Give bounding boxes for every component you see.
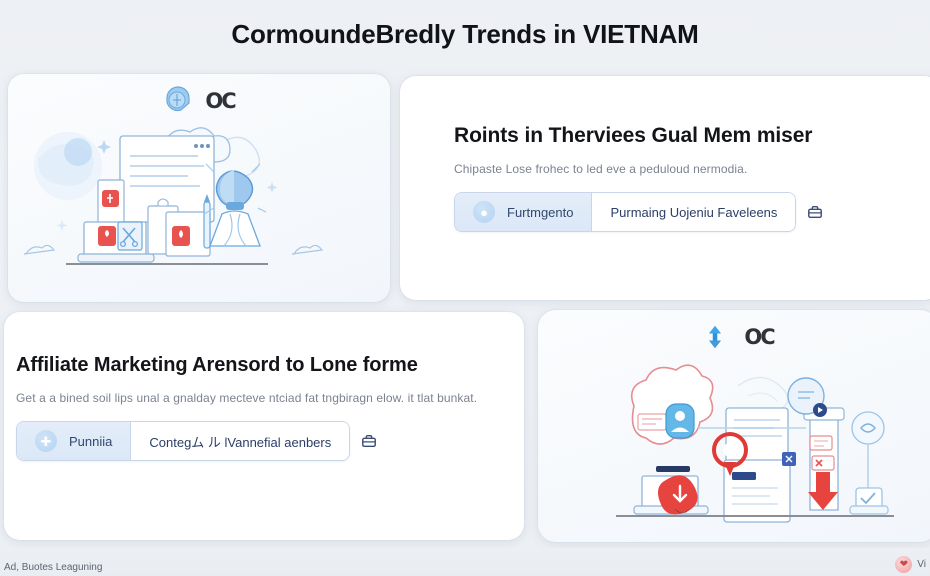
segment-option-primary-top-right[interactable]: ● Furtmgento bbox=[455, 193, 591, 231]
header-bar: CormoundeBredly Trends in VIETNAM bbox=[0, 0, 930, 68]
person-icon: ● bbox=[473, 201, 495, 223]
content-card-top-right: Roints in Therviees Gual Mem miser Chipa… bbox=[400, 76, 930, 300]
card-subtitle-top-right: Chipaste Lose frohec to led eve a pedulo… bbox=[454, 162, 886, 176]
laptop-documents-cloud-illustration bbox=[8, 74, 390, 302]
footer-left-text: Ad, Buotes Leaguning bbox=[4, 562, 102, 573]
segmented-control-row-bottom-left: ✚ Punniia Contegム ル lVannefial aenbers bbox=[16, 421, 498, 461]
download-social-documents-illustration bbox=[538, 310, 930, 542]
footer-bar: Ad, Buotes Leaguning ❤ Vi bbox=[0, 548, 930, 576]
segment-option-secondary-top-right[interactable]: Purmaing Uojeniu Faveleens bbox=[591, 193, 795, 231]
app-root: CormoundeBredly Trends in VIETNAM OC bbox=[0, 0, 930, 576]
card-heading-top-right: Roints in Therviees Gual Mem miser bbox=[454, 124, 886, 148]
segment-option-secondary-bottom-left[interactable]: Contegム ル lVannefial aenbers bbox=[130, 422, 349, 460]
segmented-control-bottom-left[interactable]: ✚ Punniia Contegム ル lVannefial aenbers bbox=[16, 421, 350, 461]
briefcase-icon[interactable] bbox=[360, 432, 378, 450]
segment-option-secondary-label-bottom-left: Contegム ル lVannefial aenbers bbox=[149, 432, 331, 451]
segment-option-primary-label-top-right: Furtmgento bbox=[507, 205, 573, 220]
heart-badge-icon: ❤ bbox=[895, 556, 912, 573]
segment-option-secondary-label-top-right: Purmaing Uojeniu Faveleens bbox=[610, 205, 777, 220]
illustration-card-top-left[interactable]: OC bbox=[8, 74, 390, 302]
plus-icon: ✚ bbox=[35, 430, 57, 452]
segment-option-primary-bottom-left[interactable]: ✚ Punniia bbox=[17, 422, 130, 460]
briefcase-icon[interactable] bbox=[806, 203, 824, 221]
card-body-top-right: Roints in Therviees Gual Mem miser Chipa… bbox=[400, 76, 930, 232]
card-subtitle-bottom-left: Get a a bined soil lips unal a gnalday m… bbox=[16, 391, 498, 405]
segment-option-primary-label-bottom-left: Punniia bbox=[69, 434, 112, 449]
card-body-bottom-left: Affiliate Marketing Arensord to Lone for… bbox=[4, 312, 524, 461]
page-title: CormoundeBredly Trends in VIETNAM bbox=[231, 19, 698, 50]
footer-right-text: Vi bbox=[917, 559, 926, 570]
card-heading-bottom-left: Affiliate Marketing Arensord to Lone for… bbox=[16, 354, 498, 377]
segmented-control-row-top-right: ● Furtmgento Purmaing Uojeniu Faveleens bbox=[454, 192, 886, 232]
footer-right-group: ❤ Vi bbox=[895, 556, 926, 573]
content-card-bottom-left: Affiliate Marketing Arensord to Lone for… bbox=[4, 312, 524, 540]
illustration-card-bottom-right[interactable]: OC bbox=[538, 310, 930, 542]
segmented-control-top-right[interactable]: ● Furtmgento Purmaing Uojeniu Faveleens bbox=[454, 192, 796, 232]
